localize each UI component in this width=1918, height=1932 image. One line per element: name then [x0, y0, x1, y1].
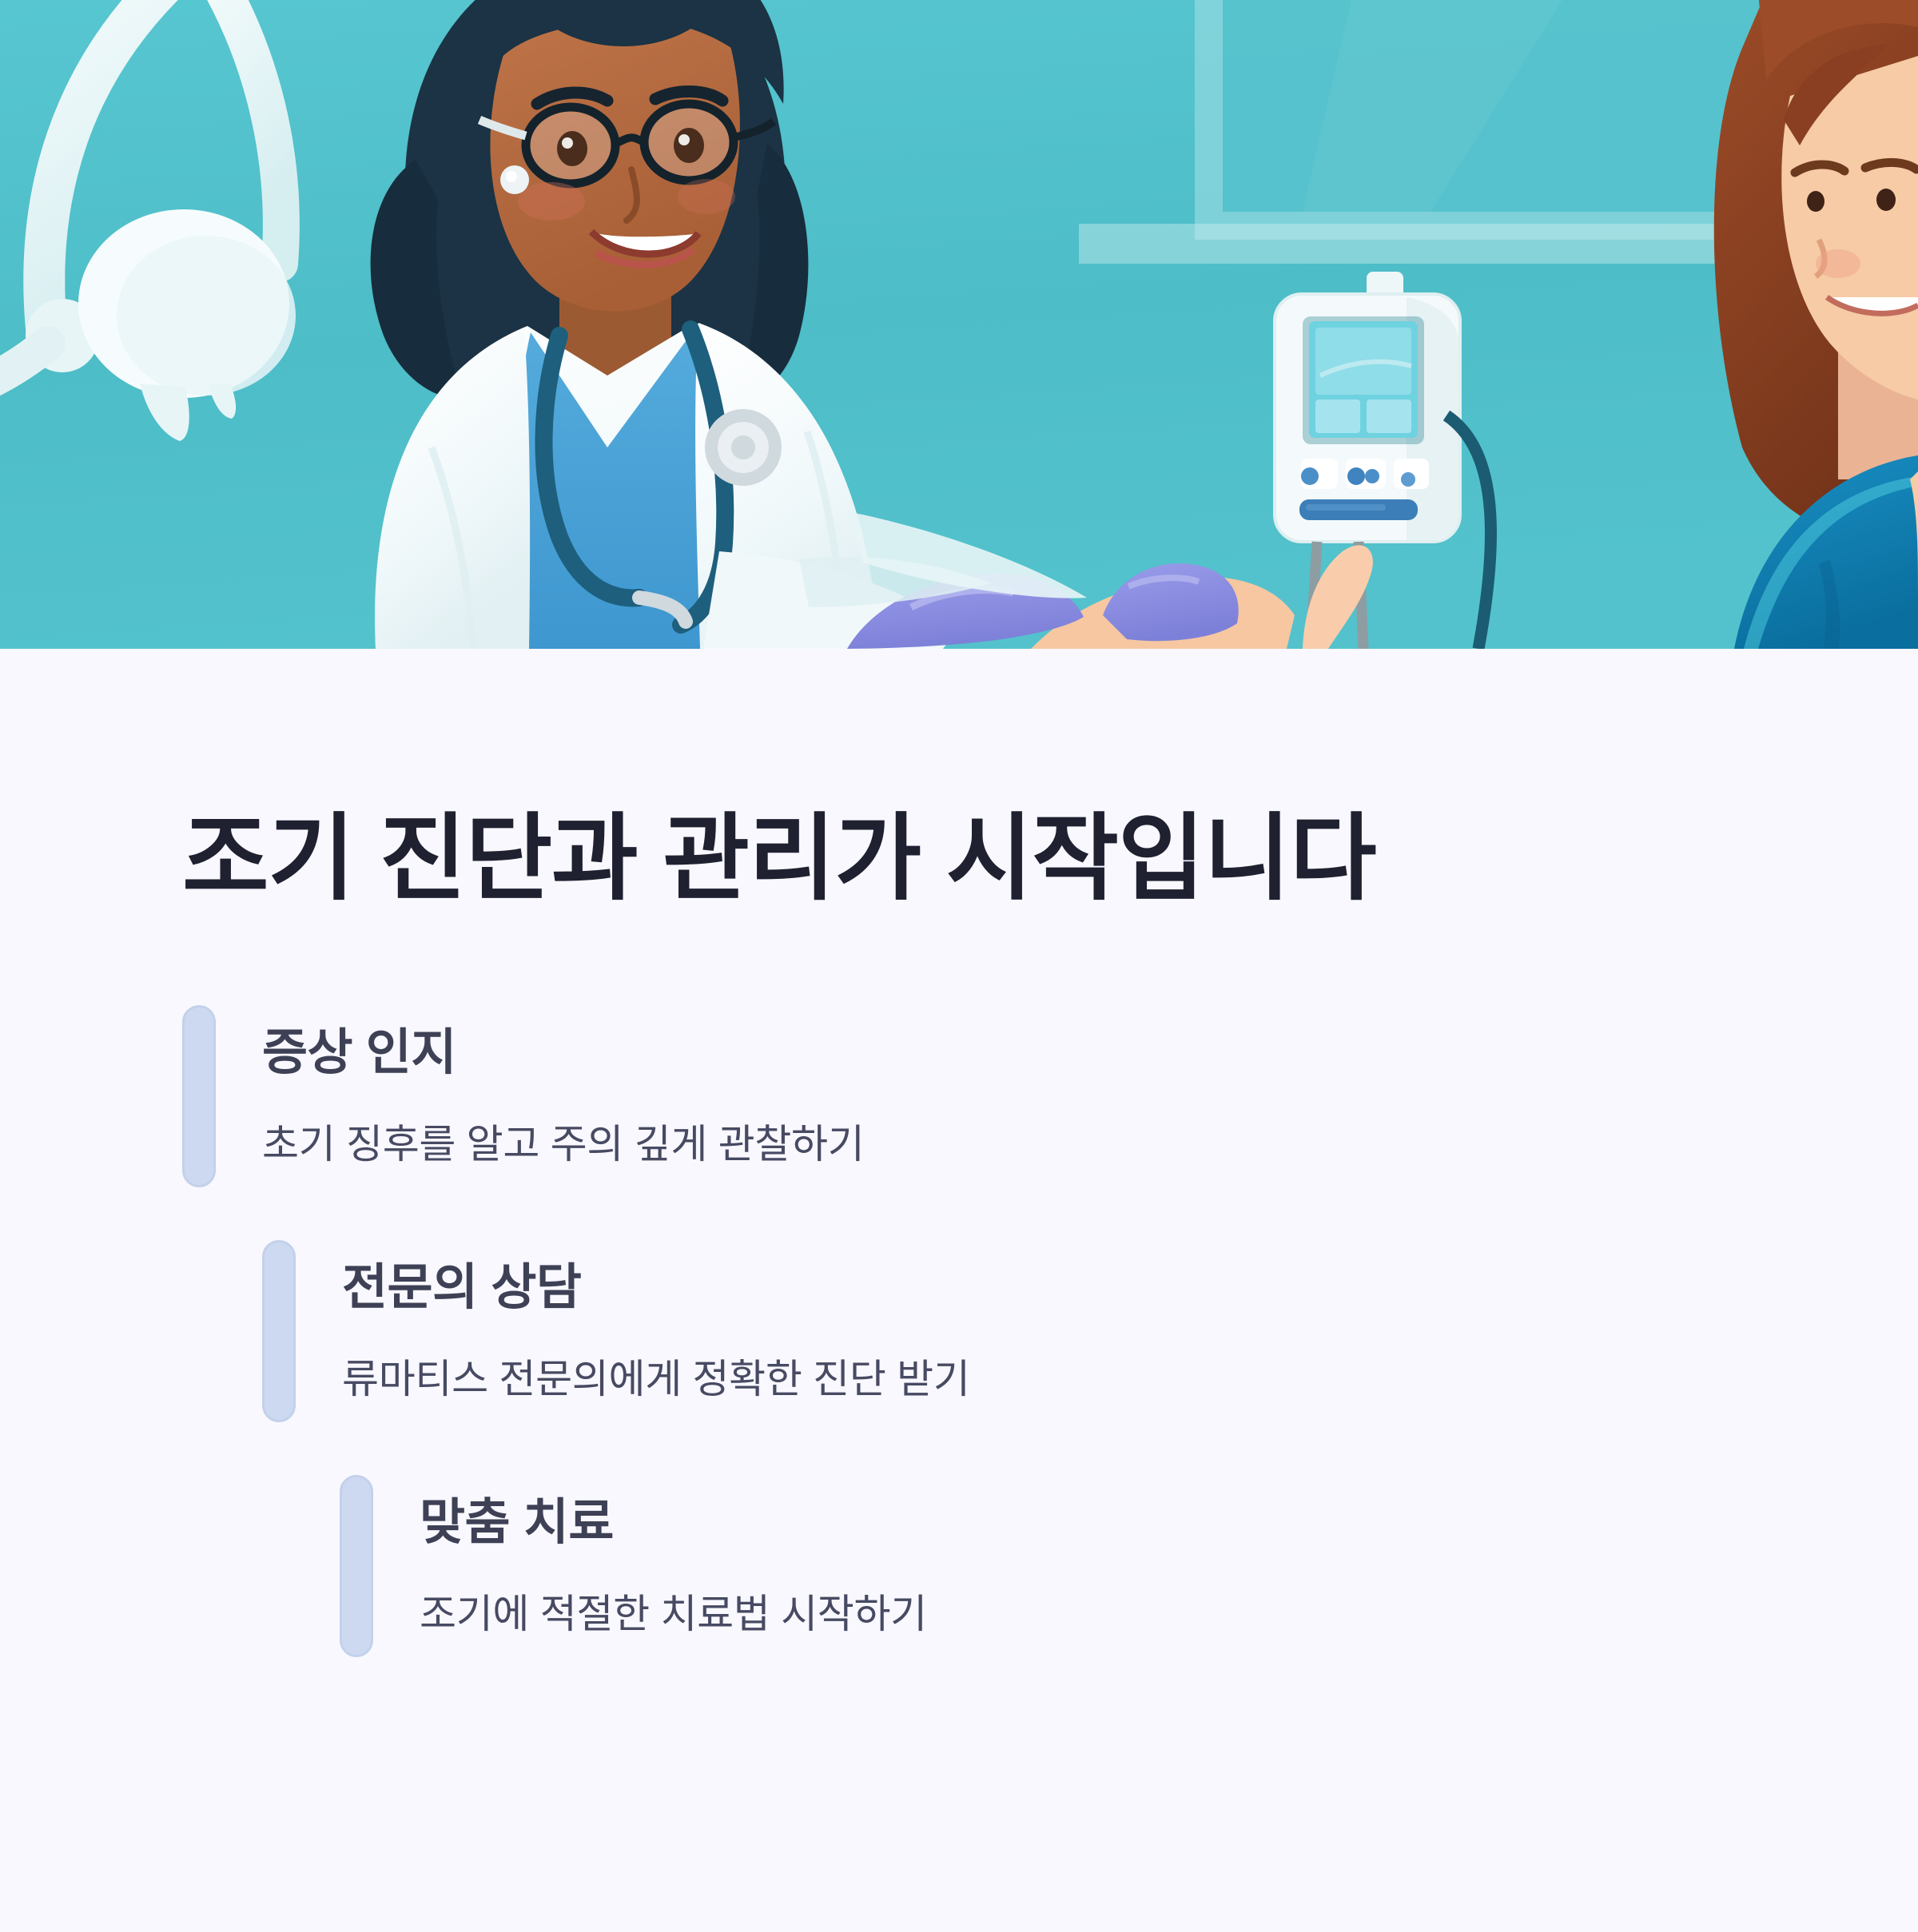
- step-description: 조기에 적절한 치료법 시작하기: [420, 1588, 927, 1642]
- hero-illustration: [0, 0, 1918, 649]
- step-title: 전문의 상담: [342, 1256, 970, 1321]
- step-title: 맞춤 치료: [420, 1491, 927, 1556]
- step-item-1: 증상 인지 초기 징후를 알고 주의 깊게 관찰하기: [0, 1005, 1918, 1187]
- step-description: 류마티스 전문의에게 정확한 진단 받기: [342, 1353, 970, 1407]
- steps-list: 증상 인지 초기 징후를 알고 주의 깊게 관찰하기 전문의 상담 류마티스 전…: [0, 1005, 1918, 1710]
- page-title: 조기 진단과 관리가 시작입니다: [182, 801, 1376, 919]
- step-body: 증상 인지 초기 징후를 알고 주의 깊게 관찰하기: [216, 1005, 864, 1187]
- step-title: 증상 인지: [262, 1021, 864, 1086]
- step-accent-bar: [262, 1240, 296, 1422]
- step-body: 전문의 상담 류마티스 전문의에게 정확한 진단 받기: [296, 1240, 970, 1422]
- hero-illustration-svg: [0, 0, 1918, 649]
- step-accent-bar: [340, 1475, 373, 1657]
- step-item-2: 전문의 상담 류마티스 전문의에게 정확한 진단 받기: [0, 1240, 1918, 1422]
- step-accent-bar: [182, 1005, 216, 1187]
- step-body: 맞춤 치료 조기에 적절한 치료법 시작하기: [373, 1475, 927, 1657]
- step-description: 초기 징후를 알고 주의 깊게 관찰하기: [262, 1118, 864, 1172]
- step-item-3: 맞춤 치료 조기에 적절한 치료법 시작하기: [0, 1475, 1918, 1657]
- page-root: 조기 진단과 관리가 시작입니다 증상 인지 초기 징후를 알고 주의 깊게 관…: [0, 0, 1918, 1932]
